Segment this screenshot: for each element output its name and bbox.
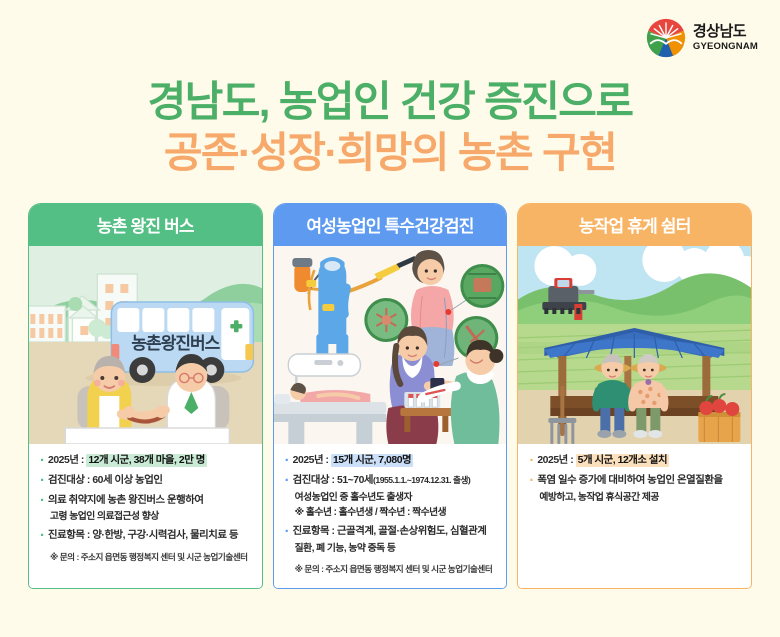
list-item: 2025년 : 12개 시군, 38개 마을, 2만 명 bbox=[39, 454, 253, 469]
bullet-suffix: 질환, 폐 기능, 농약 중독 등 bbox=[293, 542, 498, 556]
bullet-prefix: 2025년 : bbox=[293, 455, 331, 466]
logo-name-en: GYEONGNAM bbox=[693, 42, 758, 52]
logo-name-kr: 경상남도 bbox=[693, 24, 758, 39]
bullet-prefix: 진료항목 : 근골격계, 골절·손상위험도, 심혈관계 bbox=[293, 526, 487, 537]
bullet-highlight: 12개 시군, 38개 마을, 2만 명 bbox=[86, 454, 207, 467]
illustration-rural-visiting-bus: 농촌왕진버스 bbox=[29, 246, 262, 444]
bullet-suffix: 예방하고, 농작업 휴식공간 제공 bbox=[537, 491, 742, 505]
bullet-suffix: 여성농업인 중 홀수년도 출생자 bbox=[293, 491, 498, 505]
bullet-paren: (1955.1.1.~1974.12.31. 출생) bbox=[373, 475, 470, 485]
bullet-prefix: 검진대상 : 60세 이상 농업인 bbox=[48, 475, 163, 486]
list-item: 검진대상 : 51~70세(1955.1.1.~1974.12.31. 출생) … bbox=[284, 474, 498, 521]
bullet-suffix: 고령 농업인 의료접근성 향상 bbox=[48, 510, 253, 524]
svg-text:농촌왕진버스: 농촌왕진버스 bbox=[131, 334, 220, 353]
list-item: 검진대상 : 60세 이상 농업인 bbox=[39, 474, 253, 489]
bullet-prefix: 2025년 : bbox=[48, 455, 86, 466]
card-body-farm-rest-shelter: 2025년 : 5개 시군, 12개소 설치 폭염 일수 증가에 대비하여 농업… bbox=[518, 444, 751, 588]
bullet-highlight: 15개 시군, 7,080명 bbox=[331, 454, 413, 467]
card-header-rural-visiting-bus: 농촌 왕진 버스 bbox=[29, 204, 262, 246]
card-body-women-farmer-checkup: 2025년 : 15개 시군, 7,080명 검진대상 : 51~70세(195… bbox=[274, 444, 507, 588]
list-item: 의료 취약지에 농촌 왕진버스 운행하여고령 농업인 의료접근성 향상 bbox=[39, 494, 253, 525]
card-footnote: ※ 문의 : 주소지 읍면동 행정복지 센터 및 시군 농업기술센터 bbox=[284, 563, 498, 575]
bullet-note: ※ 홀수년 : 홀수년생 / 짝수년 : 짝수년생 bbox=[293, 506, 498, 520]
title-line-1: 경남도, 농업인 건강 증진으로 bbox=[0, 78, 780, 125]
logo-text-block: 경상남도 GYEONGNAM bbox=[693, 24, 758, 52]
gyeongnam-emblem-icon bbox=[646, 18, 686, 58]
card-header-women-farmer-checkup: 여성농업인 특수건강검진 bbox=[274, 204, 507, 246]
list-item: 2025년 : 5개 시군, 12개소 설치 bbox=[528, 454, 742, 469]
card-body-rural-visiting-bus: 2025년 : 12개 시군, 38개 마을, 2만 명 검진대상 : 60세 … bbox=[29, 444, 262, 588]
bullet-list-rural-visiting-bus: 2025년 : 12개 시군, 38개 마을, 2만 명 검진대상 : 60세 … bbox=[39, 454, 253, 544]
bullet-prefix: 진료항목 : 양·한방, 구강·시력검사, 물리치료 등 bbox=[48, 530, 238, 541]
gyeongnam-logo: 경상남도 GYEONGNAM bbox=[646, 18, 758, 58]
bullet-prefix: 의료 취약지에 농촌 왕진버스 운행하여 bbox=[48, 495, 204, 506]
program-cards-container: 농촌 왕진 버스 bbox=[28, 203, 752, 589]
card-women-farmer-checkup[interactable]: 여성농업인 특수건강검진 bbox=[273, 203, 508, 589]
title-line-2: 공존·성장·희망의 농촌 구현 bbox=[0, 129, 780, 176]
illustration-women-farmer-checkup bbox=[274, 246, 507, 444]
list-item: 진료항목 : 양·한방, 구강·시력검사, 물리치료 등 bbox=[39, 529, 253, 544]
card-farm-rest-shelter[interactable]: 농작업 휴게 쉼터 bbox=[517, 203, 752, 589]
card-footnote: ※ 문의 : 주소지 읍면동 행정복지 센터 및 시군 농업기술센터 bbox=[39, 551, 253, 563]
page-title: 경남도, 농업인 건강 증진으로 공존·성장·희망의 농촌 구현 bbox=[0, 78, 780, 176]
list-item: 진료항목 : 근골격계, 골절·손상위험도, 심혈관계질환, 폐 기능, 농약 … bbox=[284, 525, 498, 556]
list-item: 폭염 일수 증가에 대비하여 농업인 온열질환을예방하고, 농작업 휴식공간 제… bbox=[528, 474, 742, 505]
bullet-list-women-farmer-checkup: 2025년 : 15개 시군, 7,080명 검진대상 : 51~70세(195… bbox=[284, 454, 498, 556]
bullet-prefix: 2025년 : bbox=[537, 455, 575, 466]
card-rural-visiting-bus[interactable]: 농촌 왕진 버스 bbox=[28, 203, 263, 589]
list-item: 2025년 : 15개 시군, 7,080명 bbox=[284, 454, 498, 469]
card-header-farm-rest-shelter: 농작업 휴게 쉼터 bbox=[518, 204, 751, 246]
bullet-list-farm-rest-shelter: 2025년 : 5개 시군, 12개소 설치 폭염 일수 증가에 대비하여 농업… bbox=[528, 454, 742, 504]
bullet-prefix: 폭염 일수 증가에 대비하여 농업인 온열질환을 bbox=[537, 475, 722, 486]
bullet-highlight: 5개 시군, 12개소 설치 bbox=[576, 454, 670, 467]
bullet-prefix: 검진대상 : 51~70세 bbox=[293, 475, 373, 486]
illustration-farm-rest-shelter bbox=[518, 246, 751, 444]
